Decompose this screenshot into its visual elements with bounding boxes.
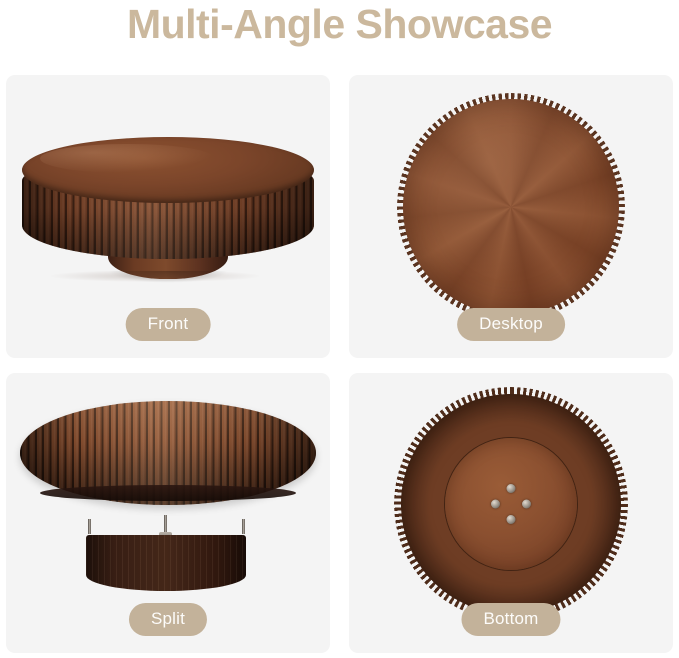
page-title: Multi-Angle Showcase — [0, 0, 679, 48]
tabletop-wood-grain-disc — [403, 99, 619, 315]
card-label-desktop[interactable]: Desktop — [457, 308, 565, 341]
mounting-bolt-left — [88, 519, 91, 534]
screw-right — [522, 500, 531, 509]
card-label-split[interactable]: Split — [129, 603, 207, 636]
card-label-front[interactable]: Front — [126, 308, 211, 341]
gallery-card-desktop[interactable]: Desktop — [349, 75, 673, 358]
screw-left — [491, 500, 500, 509]
base-mounting-plate — [445, 438, 577, 570]
tabletop-surface — [22, 137, 314, 203]
top-underside-shadow — [40, 485, 296, 501]
card-label-bottom[interactable]: Bottom — [461, 603, 560, 636]
gallery-card-front[interactable]: Front — [6, 75, 330, 358]
table-split-icon — [20, 401, 316, 591]
table-bottom-icon — [394, 387, 628, 621]
showcase-page: Multi-Angle Showcase Front — [0, 0, 679, 658]
gallery-grid: Front Desktop — [6, 75, 673, 653]
table-top-icon — [397, 93, 625, 321]
detached-cylindrical-base — [86, 535, 246, 591]
gallery-card-bottom[interactable]: Bottom — [349, 373, 673, 653]
gallery-card-split[interactable]: Split — [6, 373, 330, 653]
mounting-bolt-right — [242, 519, 245, 534]
screw-bottom — [507, 515, 516, 524]
floor-shadow — [50, 270, 260, 282]
screw-top — [507, 484, 516, 493]
